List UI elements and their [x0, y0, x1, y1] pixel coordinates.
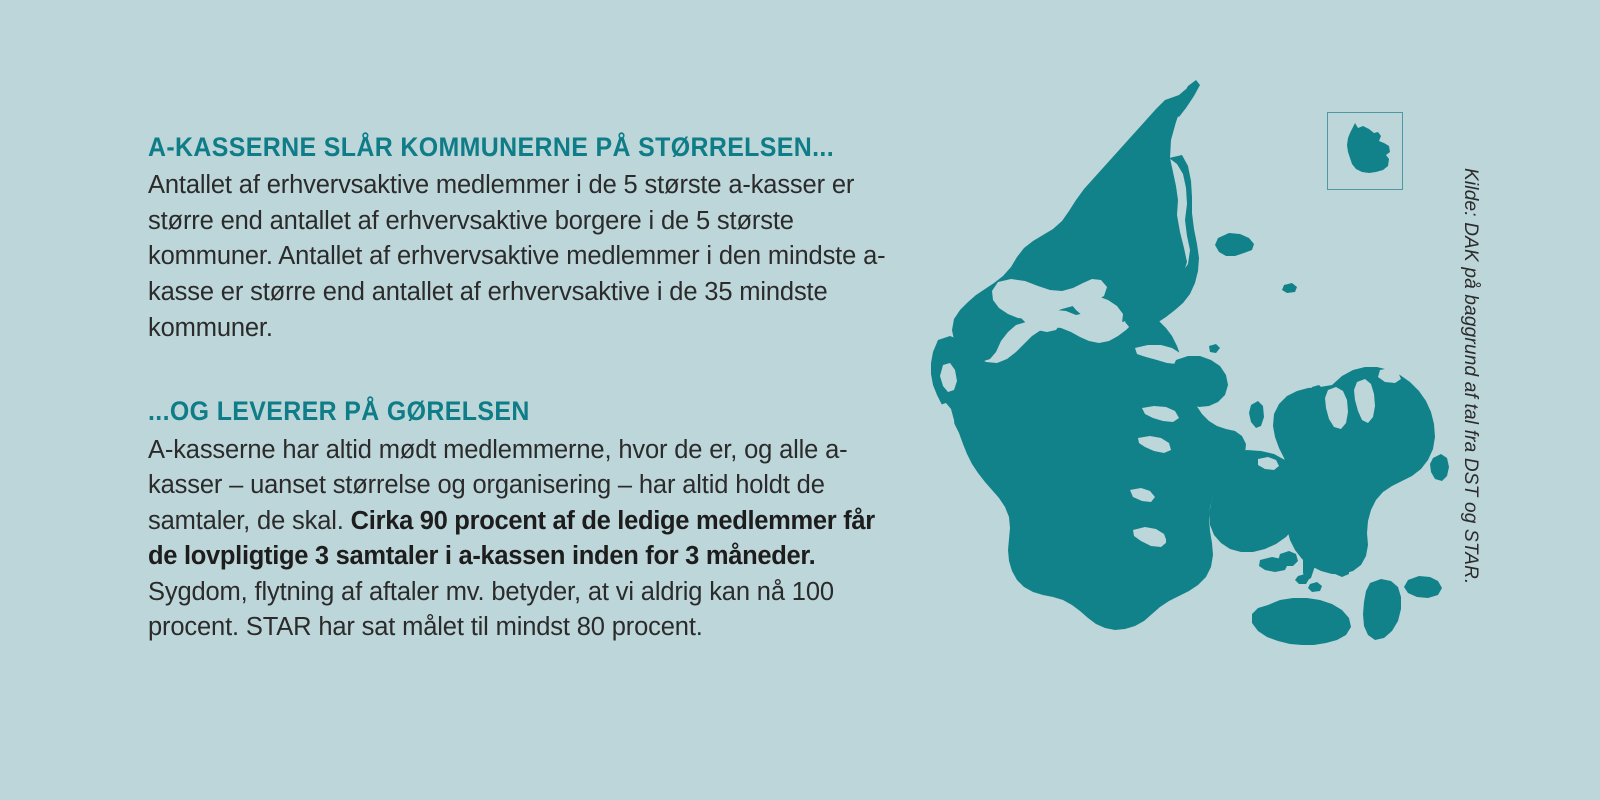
section-a-kasserne-slaar: A-KASSERNE SLÅR KOMMUNERNE PÅ STØRRELSEN…	[148, 132, 908, 346]
samsoe-island	[1249, 401, 1264, 428]
moen-island	[1404, 576, 1442, 598]
roemoe-water-gap	[935, 552, 954, 572]
section-2-heading: ...OG LEVERER PÅ GØRELSEN	[148, 396, 862, 427]
orkney-islet-north	[1209, 344, 1220, 353]
section-2-body: A-kasserne har altid mødt medlemmerne, h…	[148, 433, 908, 647]
west-coast-wadden-water	[932, 512, 950, 537]
bornholm-island-shape	[1347, 123, 1390, 173]
laesoe-island	[1215, 233, 1254, 256]
source-note: Kilde: DAK på baggrund af tal fra DST og…	[1455, 168, 1485, 608]
section-1-body: Antallet af erhvervsaktive medlemmer i d…	[148, 168, 908, 346]
section-2-body-part-2: Sygdom, flytning af aftaler mv. betyder,…	[148, 578, 834, 642]
infographic-canvas: A-KASSERNE SLÅR KOMMUNERNE PÅ STØRRELSEN…	[0, 0, 1600, 800]
falster-island	[1363, 579, 1401, 640]
anholt-island	[1282, 283, 1297, 293]
bornholm-inset	[1327, 112, 1403, 190]
zealand-island	[1273, 367, 1435, 574]
bornholm-inset-svg	[1328, 113, 1402, 189]
lolland-island	[1252, 598, 1351, 645]
text-column: A-KASSERNE SLÅR KOMMUNERNE PÅ STØRRELSEN…	[148, 132, 908, 646]
fejoe-islet	[1308, 582, 1322, 592]
section-og-leverer: ...OG LEVERER PÅ GØRELSEN A-kasserne har…	[148, 396, 908, 646]
section-1-heading: A-KASSERNE SLÅR KOMMUNERNE PÅ STØRRELSEN…	[148, 132, 862, 163]
